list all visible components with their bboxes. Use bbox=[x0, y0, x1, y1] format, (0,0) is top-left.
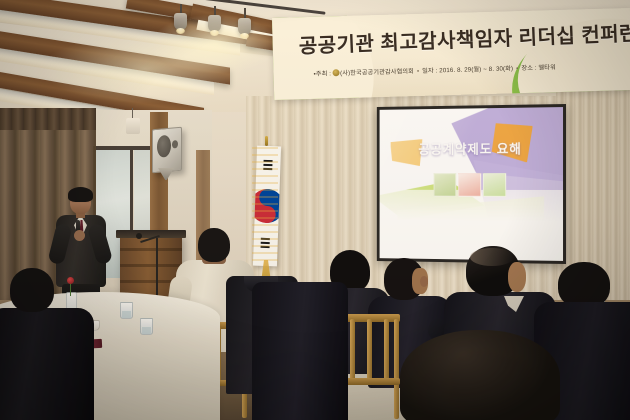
podium-slat-1 bbox=[120, 248, 182, 251]
taeguk-symbol-icon bbox=[253, 188, 281, 223]
water-glass-2 bbox=[120, 302, 133, 319]
presenter-hand bbox=[74, 230, 85, 241]
audience-ear-4 bbox=[420, 276, 428, 287]
chair-post-2d bbox=[384, 319, 389, 381]
left-curtain-valance bbox=[0, 108, 96, 130]
podium-slat-2 bbox=[120, 264, 182, 267]
presenter-hair bbox=[68, 187, 93, 202]
audience-torso-0 bbox=[0, 308, 94, 420]
spotlight-3 bbox=[238, 18, 251, 35]
banner-date-value: 2016. 8. 29(월) ~ 8. 30(화) bbox=[439, 65, 513, 74]
audience-torso-2 bbox=[252, 282, 348, 420]
banner-host-name: (사)한국공공기관감사협의회 bbox=[340, 68, 414, 77]
water-glass-3 bbox=[140, 318, 153, 335]
pendant-light bbox=[126, 118, 140, 134]
projection-screen-frame: 공공계약제도 요해 bbox=[377, 104, 566, 264]
association-emblem-icon bbox=[332, 69, 339, 76]
slide-thumbnail-group bbox=[434, 173, 507, 197]
wall-speaker bbox=[152, 127, 182, 174]
projection-screen: 공공계약제도 요해 bbox=[380, 107, 563, 261]
audience-head-0 bbox=[10, 268, 54, 312]
spotlight-2 bbox=[208, 15, 221, 32]
trigram-3 bbox=[263, 168, 272, 170]
slide-thumbnail-2 bbox=[458, 173, 481, 197]
conference-photo: 공공기관 최고감사책임자 리더십 컨퍼런스 •주최 :(사)한국공공기관감사협의… bbox=[0, 0, 630, 420]
trigram-6 bbox=[261, 246, 270, 248]
speaker-tweeter bbox=[172, 140, 178, 149]
korean-flag bbox=[253, 146, 281, 267]
trigram-5 bbox=[261, 242, 270, 244]
slide-title: 공공계약제도 요해 bbox=[380, 138, 563, 158]
trigram-1 bbox=[264, 160, 273, 162]
audience-head-6 bbox=[400, 330, 560, 420]
audience-member-foreground-left bbox=[0, 268, 90, 420]
chair-post-2e bbox=[394, 319, 399, 419]
audience-hair-highlight-5 bbox=[470, 248, 514, 266]
flag-finial bbox=[265, 136, 268, 146]
audience-member-foreground-center bbox=[252, 282, 348, 420]
speaker-cone bbox=[157, 135, 171, 158]
banner-bullet-3: • bbox=[513, 65, 521, 72]
chair-post-2b bbox=[350, 319, 355, 381]
audience-face-5 bbox=[508, 262, 526, 292]
banner-host-label: 주최 : bbox=[316, 70, 331, 77]
slide-thumbnail-3 bbox=[483, 173, 506, 197]
audience-member-foreground-bottom bbox=[400, 330, 560, 420]
door-header bbox=[93, 146, 151, 150]
trigram-4 bbox=[261, 238, 270, 240]
audience-head-1 bbox=[198, 228, 230, 262]
chair-post-2c bbox=[367, 319, 372, 381]
spotlight-1 bbox=[174, 13, 187, 30]
banner-date-label: 일자 : bbox=[422, 67, 437, 74]
banner-place-label: 장소 : bbox=[521, 65, 536, 72]
korean-flag-assembly bbox=[252, 142, 282, 278]
slide-thumbnail-1 bbox=[434, 173, 457, 196]
banner-bullet-2: • bbox=[414, 68, 422, 75]
banner-place-value: 엘타워 bbox=[538, 64, 556, 71]
trigram-2 bbox=[263, 164, 272, 166]
event-banner: 공공기관 최고감사책임자 리더십 컨퍼런스 •주최 :(사)한국공공기관감사협의… bbox=[272, 8, 630, 100]
microphone-head-icon bbox=[136, 233, 142, 239]
